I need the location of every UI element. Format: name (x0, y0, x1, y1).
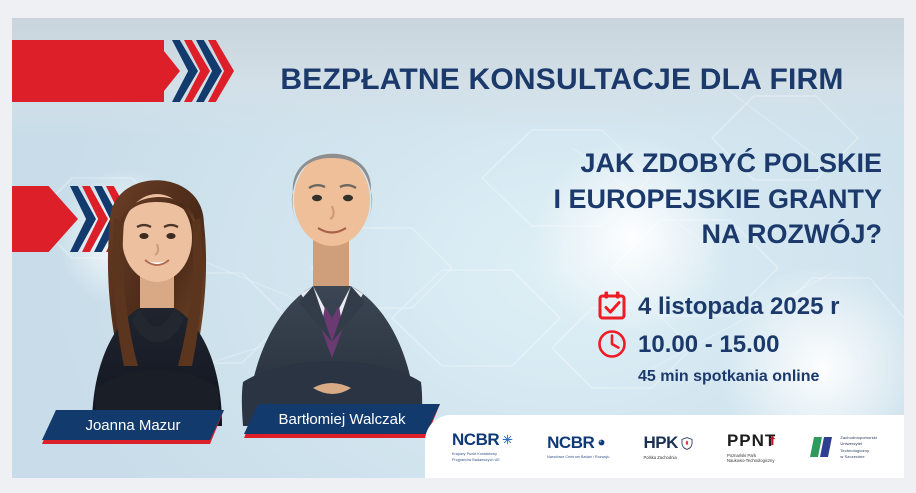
logo-ncbr-wordmark: NCBR (547, 433, 594, 453)
event-date: 4 listopada 2025 r (638, 293, 839, 321)
logo-zut: Zachodniopomorski Uniwersytet Technologi… (810, 433, 877, 461)
speaker-name-bartlomiej: Bartłomiej Walczak (244, 404, 440, 434)
subheadline: JAK ZDOBYĆ POLSKIE I EUROPEJSKIE GRANTY … (442, 146, 882, 253)
logo-hpk: HPK Polska Zachodnia (644, 433, 693, 460)
logo-hpk-wordmark: HPK (644, 433, 678, 453)
speaker-badge-joanna: Joanna Mazur (42, 410, 224, 444)
logo-hpk-subtitle: Polska Zachodnia (644, 455, 693, 460)
logo-ncbr-kpk: NCBR Krajowy Punkt Kontaktowy Programów … (452, 430, 513, 464)
event-time: 10.00 - 15.00 (638, 331, 779, 359)
speaker-name-joanna: Joanna Mazur (42, 410, 224, 440)
logo-zut-subtitle: Zachodniopomorski Uniwersytet Technologi… (840, 435, 877, 461)
promo-banner: BEZPŁATNE KONSULTACJE DLA FIRM JAK ZDOBY… (12, 18, 904, 478)
zut-bars-mark (810, 435, 836, 459)
logo-ppnt: PPNT Poznański Park Naukowo-Technologicz… (727, 431, 776, 463)
speaker-badge-bartlomiej: Bartłomiej Walczak (244, 404, 440, 438)
page-title: BEZPŁATNE KONSULTACJE DLA FIRM (242, 63, 882, 96)
event-time-row: 10.00 - 15.00 (596, 326, 896, 364)
subheadline-line-3: NA ROZWÓJ? (442, 217, 882, 253)
logo-ncbr-kpk-subtitle: Krajowy Punkt Kontaktowy Programów Badaw… (452, 452, 513, 464)
event-date-row: 4 listopada 2025 r (596, 288, 896, 326)
event-details: 4 listopada 2025 r 10.00 - 15.00 45 min … (596, 288, 896, 386)
logo-ncbr: NCBR Narodowe Centrum Badań i Rozwoju (547, 433, 609, 461)
arrow-band-graphic (12, 40, 227, 102)
shield-eagle-mark (681, 437, 693, 450)
snowflake-mark (502, 434, 513, 445)
subheadline-line-1: JAK ZDOBYĆ POLSKIE (442, 146, 882, 182)
calendar-check-icon (596, 290, 630, 324)
clock-icon (596, 328, 630, 362)
logo-ncbr-kpk-wordmark: NCBR (452, 430, 499, 450)
arrow-t-mark (769, 436, 776, 445)
logo-ncbr-subtitle: Narodowe Centrum Badań i Rozwoju (547, 455, 609, 461)
sponsor-logo-bar: NCBR Krajowy Punkt Kontaktowy Programów … (425, 415, 904, 478)
logo-ppnt-subtitle: Poznański Park Naukowo-Technologiczny (727, 453, 776, 463)
subheadline-line-2: I EUROPEJSKIE GRANTY (442, 182, 882, 218)
dot-mark (597, 438, 606, 447)
event-duration-note: 45 min spotkania online (638, 368, 896, 386)
photo-bartlomiej-walczak (217, 96, 447, 426)
